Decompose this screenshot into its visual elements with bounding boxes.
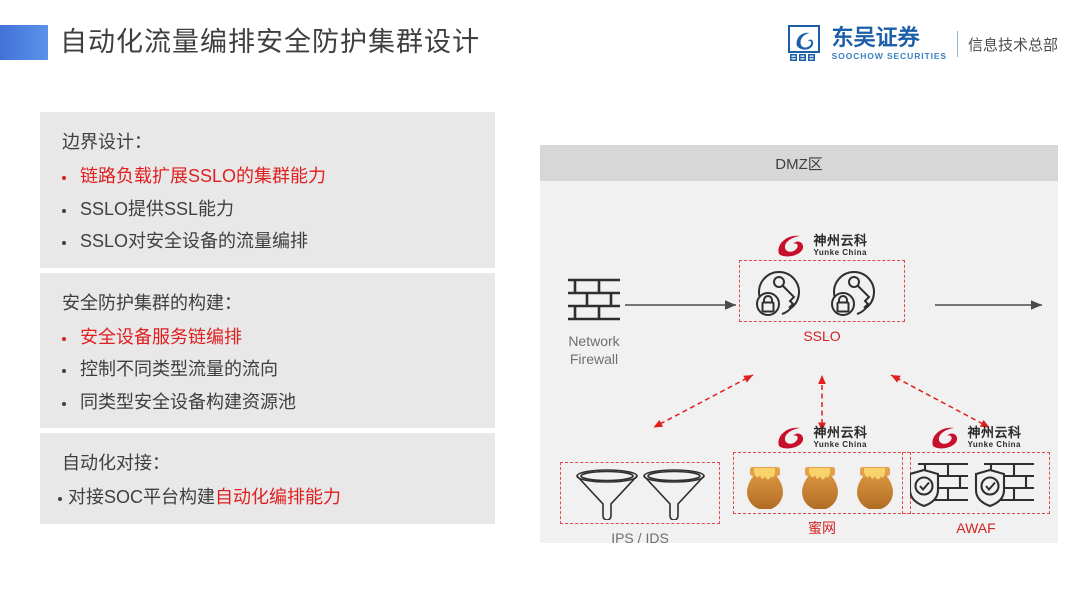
bullet-dot-icon (62, 369, 66, 373)
honeynet-group-box (733, 452, 911, 514)
vendor-name-en: Yunke China (813, 249, 867, 257)
yunke-swoosh-icon (776, 425, 810, 449)
vendor-wordmark: 神州云科 Yunke China (813, 234, 867, 257)
dmz-zone-title: DMZ区 (775, 153, 823, 174)
vendor-wordmark: 神州云科 Yunke China (967, 426, 1021, 449)
bullet-list: 对接SOC平台构建自动化编排能力 (40, 477, 495, 510)
yunke-swoosh-icon (776, 233, 810, 257)
list-item: 同类型安全设备构建资源池 (40, 382, 495, 415)
brick-wall-icon (556, 273, 632, 327)
node-awaf[interactable]: 神州云科 Yunke China (902, 425, 1050, 538)
node-label-awaf: AWAF (902, 520, 1050, 538)
vendor-wordmark: 神州云科 Yunke China (813, 426, 867, 449)
brand-name-en: SOOCHOW SECURITIES (832, 52, 947, 61)
vendor-name-en: Yunke China (813, 441, 867, 449)
slide-header: 自动化流量编排安全防护集群设计 东吴证券 SOOCHOW SECURITIES … (0, 0, 1080, 88)
awaf-group-box (902, 452, 1050, 514)
connector-sslo-to-ips-ids (660, 375, 753, 424)
shield-wall-icon (910, 456, 1042, 510)
list-item-label: SSLO对安全设备的流量编排 (80, 230, 308, 253)
node-label-line1: Network (556, 333, 632, 351)
title-accent-bar (0, 25, 48, 60)
list-item-label: 同类型安全设备构建资源池 (80, 391, 296, 414)
list-item-label: 控制不同类型流量的流向 (80, 358, 278, 381)
bullet-dot-icon (62, 337, 66, 341)
brand-divider (957, 31, 958, 57)
ips-ids-group-box (560, 462, 720, 524)
list-item: SSLO提供SSL能力 (40, 189, 495, 222)
brand-logo: 东吴证券 SOOCHOW SECURITIES 信息技术总部 (788, 24, 1058, 64)
yunke-swoosh-icon (930, 425, 964, 449)
brand-wordmark: 东吴证券 SOOCHOW SECURITIES (832, 27, 947, 61)
list-item-text-plain: 对接SOC平台构建 (68, 487, 215, 507)
list-item-label: 链路负载扩展SSLO的集群能力 (80, 165, 326, 188)
honey-pot-icon (742, 457, 902, 509)
vendor-logo-yunke: 神州云科 Yunke China (733, 425, 911, 449)
bullet-dot-icon (62, 176, 66, 180)
connector-sslo-to-awaf (891, 375, 983, 424)
list-item: SSLO对安全设备的流量编排 (40, 221, 495, 254)
funnel-icon (570, 466, 710, 520)
node-sslo[interactable]: 神州云科 Yunke China (739, 233, 905, 346)
brand-name-cn: 东吴证券 (832, 27, 947, 49)
soochow-logo-mark (788, 25, 826, 63)
bullet-list: 安全设备服务链编排 控制不同类型流量的流向 同类型安全设备构建资源池 (40, 317, 495, 415)
list-item-text-accent: 自动化编排能力 (215, 487, 341, 507)
section-automation: 自动化对接： 对接SOC平台构建自动化编排能力 (40, 433, 495, 524)
key-lock-icon (747, 263, 897, 319)
sslo-group-box (739, 260, 905, 322)
architecture-diagram: DMZ区 (540, 145, 1058, 543)
dmz-zone-header: DMZ区 (540, 145, 1058, 181)
brand-department: 信息技术总部 (968, 34, 1058, 55)
section-heading: 安全防护集群的构建： (40, 287, 495, 317)
bullet-dot-icon (62, 209, 66, 213)
node-label-ips-ids: IPS / IDS (560, 530, 720, 548)
list-item-label: SSLO提供SSL能力 (80, 198, 234, 221)
list-item: 控制不同类型流量的流向 (40, 349, 495, 382)
vendor-name-cn: 神州云科 (813, 426, 867, 439)
node-label-sslo: SSLO (739, 328, 905, 346)
bullet-panel: 边界设计： 链路负载扩展SSLO的集群能力 SSLO提供SSL能力 SSLO对安… (40, 112, 495, 529)
section-heading: 边界设计： (40, 126, 495, 156)
node-label-line2: Firewall (556, 351, 632, 369)
list-item-label: 安全设备服务链编排 (80, 326, 242, 349)
list-item: 安全设备服务链编排 (40, 317, 495, 350)
vendor-name-cn: 神州云科 (967, 426, 1021, 439)
list-item-label: 对接SOC平台构建自动化编排能力 (68, 486, 341, 509)
list-item: 链路负载扩展SSLO的集群能力 (40, 156, 495, 189)
node-honeynet[interactable]: 神州云科 Yunke China (733, 425, 911, 538)
node-network-firewall[interactable]: Network Firewall (556, 273, 632, 368)
list-item: 对接SOC平台构建自动化编排能力 (40, 477, 495, 510)
bullet-dot-icon (62, 241, 66, 245)
bullet-dot-icon (62, 402, 66, 406)
bullet-list: 链路负载扩展SSLO的集群能力 SSLO提供SSL能力 SSLO对安全设备的流量… (40, 156, 495, 254)
diagram-canvas: Network Firewall 神州云科 Yunke China (540, 181, 1058, 543)
section-heading: 自动化对接： (40, 447, 495, 477)
vendor-logo-yunke: 神州云科 Yunke China (739, 233, 905, 257)
bullet-dot-icon (58, 497, 62, 501)
vendor-name-en: Yunke China (967, 441, 1021, 449)
section-boundary-design: 边界设计： 链路负载扩展SSLO的集群能力 SSLO提供SSL能力 SSLO对安… (40, 112, 495, 268)
node-label-network-firewall: Network Firewall (556, 333, 632, 368)
node-label-honeynet: 蜜网 (733, 520, 911, 538)
node-ips-ids[interactable]: IPS / IDS (560, 462, 720, 548)
section-security-cluster: 安全防护集群的构建： 安全设备服务链编排 控制不同类型流量的流向 同类型安全设备… (40, 273, 495, 429)
vendor-logo-yunke: 神州云科 Yunke China (902, 425, 1050, 449)
page-title: 自动化流量编排安全防护集群设计 (60, 20, 480, 59)
vendor-name-cn: 神州云科 (813, 234, 867, 247)
